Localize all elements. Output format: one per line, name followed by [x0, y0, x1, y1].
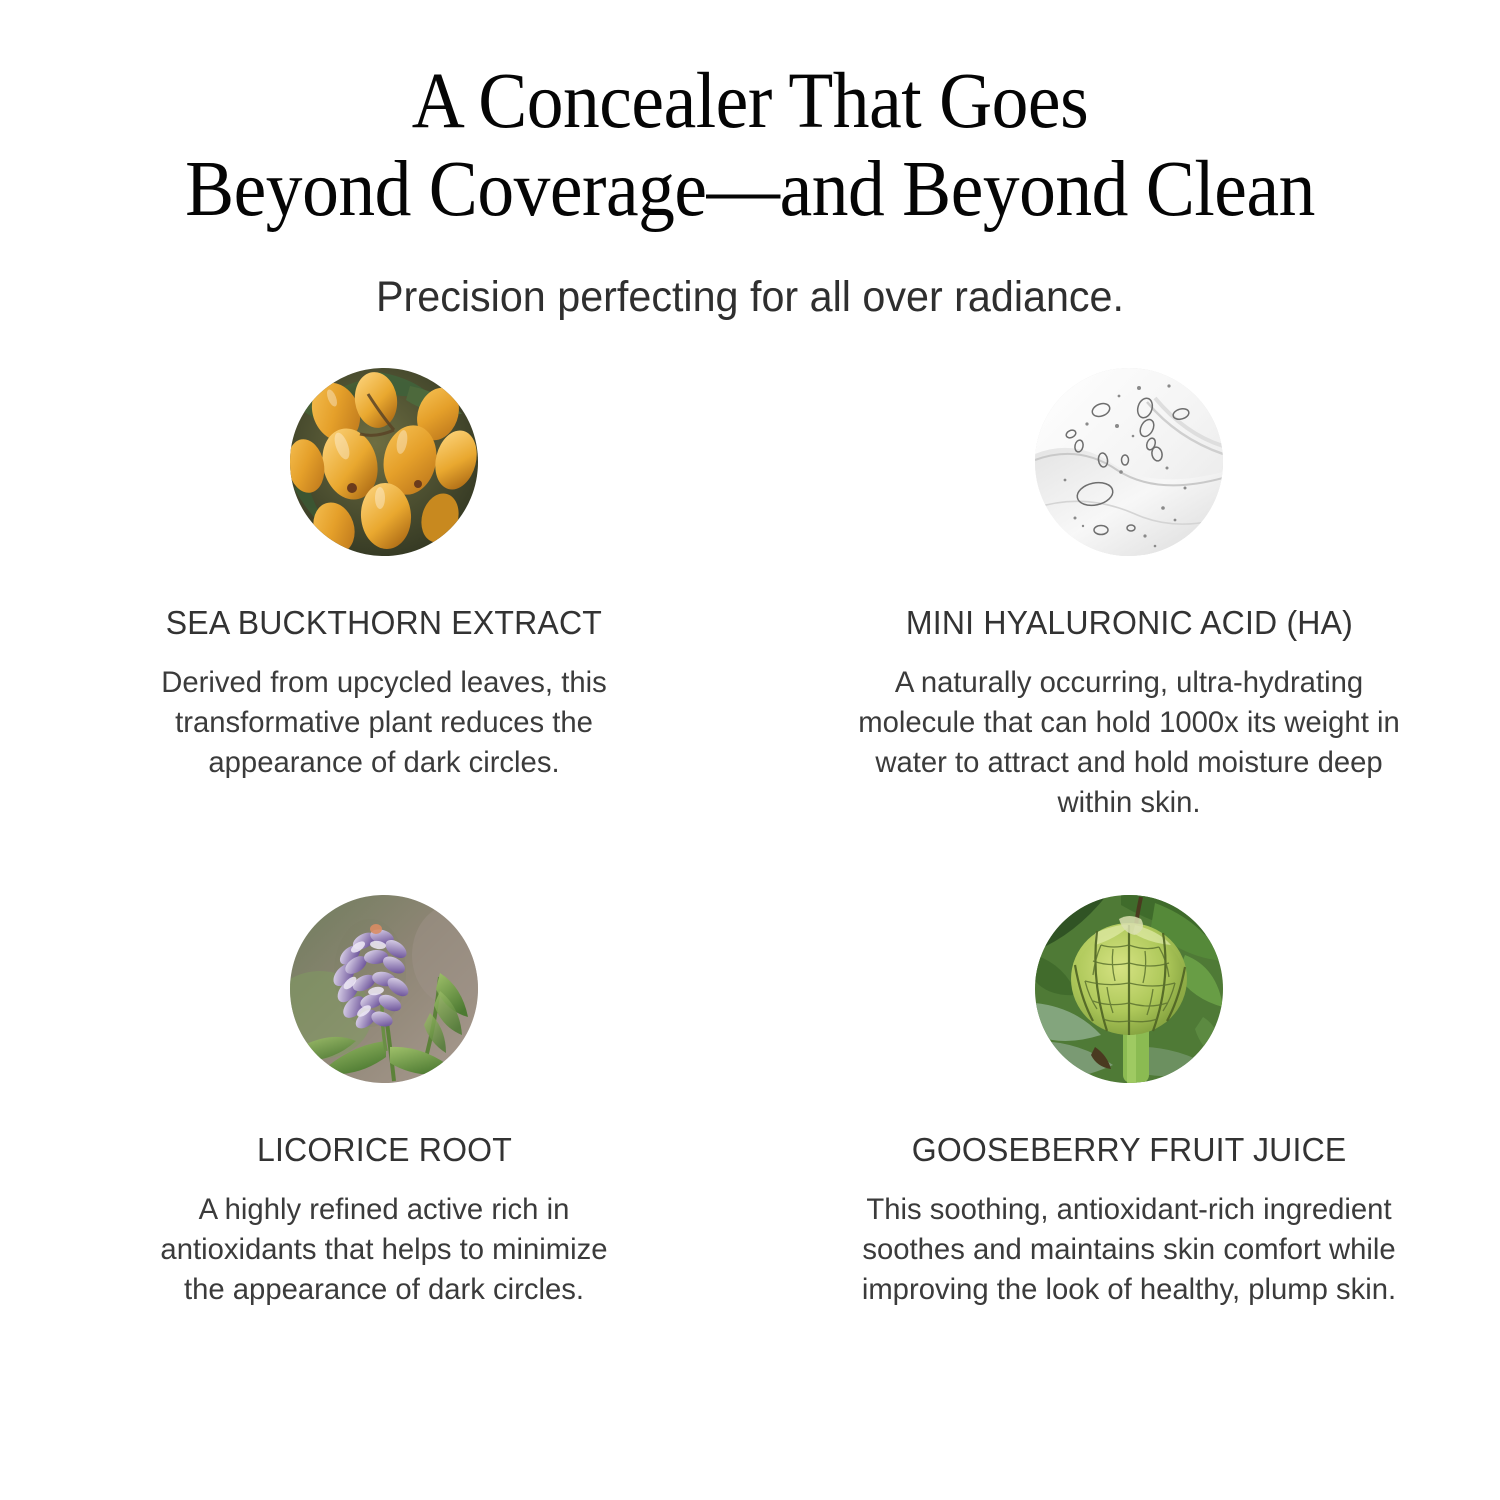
page-title-line-2: Beyond Coverage—and Beyond Clean: [53, 146, 1448, 234]
page-title-line-1: A Concealer That Goes: [412, 58, 1088, 145]
ingredient-card-gooseberry: GOOSEBERRY FRUIT JUICE This soothing, an…: [750, 895, 1500, 1310]
ingredient-title: GOOSEBERRY FRUIT JUICE: [912, 1132, 1347, 1168]
page-subtitle: Precision perfecting for all over radian…: [30, 272, 1470, 322]
licorice-root-flower-photo: [290, 895, 478, 1083]
page-header: A Concealer That Goes Beyond Coverage—an…: [0, 0, 1500, 322]
hyaluronic-acid-gel-texture-photo: [1035, 368, 1223, 556]
ingredient-title: LICORICE ROOT: [256, 1132, 511, 1168]
ingredient-card-licorice-root: LICORICE ROOT A highly refined active ri…: [0, 895, 750, 1310]
ingredient-description: This soothing, antioxidant-rich ingredie…: [856, 1190, 1402, 1310]
page-title: A Concealer That Goes Beyond Coverage—an…: [53, 58, 1448, 234]
ingredient-card-sea-buckthorn: SEA BUCKTHORN EXTRACT Derived from upcyc…: [0, 368, 750, 823]
ingredient-description: A highly refined active rich in antioxid…: [140, 1190, 628, 1310]
ingredient-description: A naturally occurring, ultra-hydrating m…: [856, 663, 1402, 823]
ingredient-title: SEA BUCKTHORN EXTRACT: [166, 605, 602, 641]
sea-buckthorn-berries-photo: [290, 368, 478, 556]
ingredient-benefits-page: A Concealer That Goes Beyond Coverage—an…: [0, 0, 1500, 1500]
ingredient-title: MINI HYALURONIC ACID (HA): [905, 605, 1352, 641]
ingredient-description: Derived from upcycled leaves, this trans…: [140, 663, 628, 783]
ingredient-card-hyaluronic-acid: MINI HYALURONIC ACID (HA) A naturally oc…: [750, 368, 1500, 823]
gooseberry-husk-fruit-photo: [1035, 895, 1223, 1083]
ingredient-grid: SEA BUCKTHORN EXTRACT Derived from upcyc…: [0, 368, 1500, 1310]
